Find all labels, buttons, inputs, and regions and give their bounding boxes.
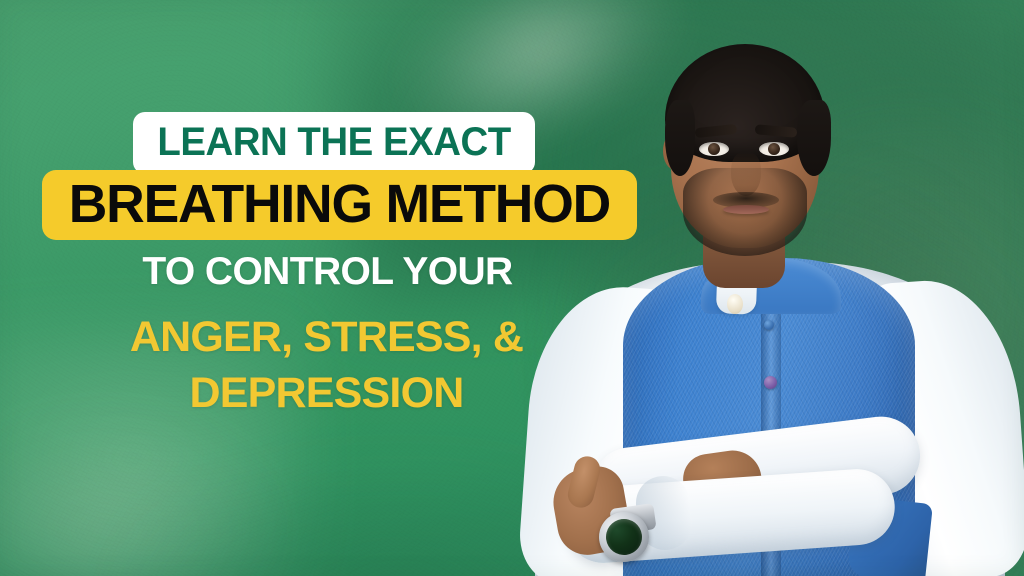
headline-line-1-text: LEARN THE EXACT xyxy=(157,122,510,162)
hair-sideburn-right xyxy=(797,100,831,176)
shirt-collar-button xyxy=(727,294,743,314)
nose xyxy=(731,152,761,196)
vest-button-middle xyxy=(764,376,777,389)
headline-line-3-text: TO CONTROL YOUR xyxy=(0,252,655,291)
thumbnail-canvas: LEARN THE EXACT BREATHING METHOD TO CONT… xyxy=(0,0,1024,576)
iris-left xyxy=(708,143,720,155)
headline-line-5-text: DEPRESSION xyxy=(0,372,653,415)
hair-sideburn-left xyxy=(665,100,695,176)
vest-button-top xyxy=(764,320,774,330)
wristwatch-dial xyxy=(604,517,645,558)
iris-right xyxy=(768,143,780,155)
headline-line-2-text: BREATHING METHOD xyxy=(69,177,610,231)
eye-right xyxy=(759,142,789,156)
headline-line-2-badge: BREATHING METHOD xyxy=(42,170,637,240)
headline-line-1-badge: LEARN THE EXACT xyxy=(133,112,535,174)
mouth xyxy=(723,205,769,214)
headline-line-4-text: ANGER, STRESS, & xyxy=(0,316,653,359)
eye-left xyxy=(699,142,729,156)
